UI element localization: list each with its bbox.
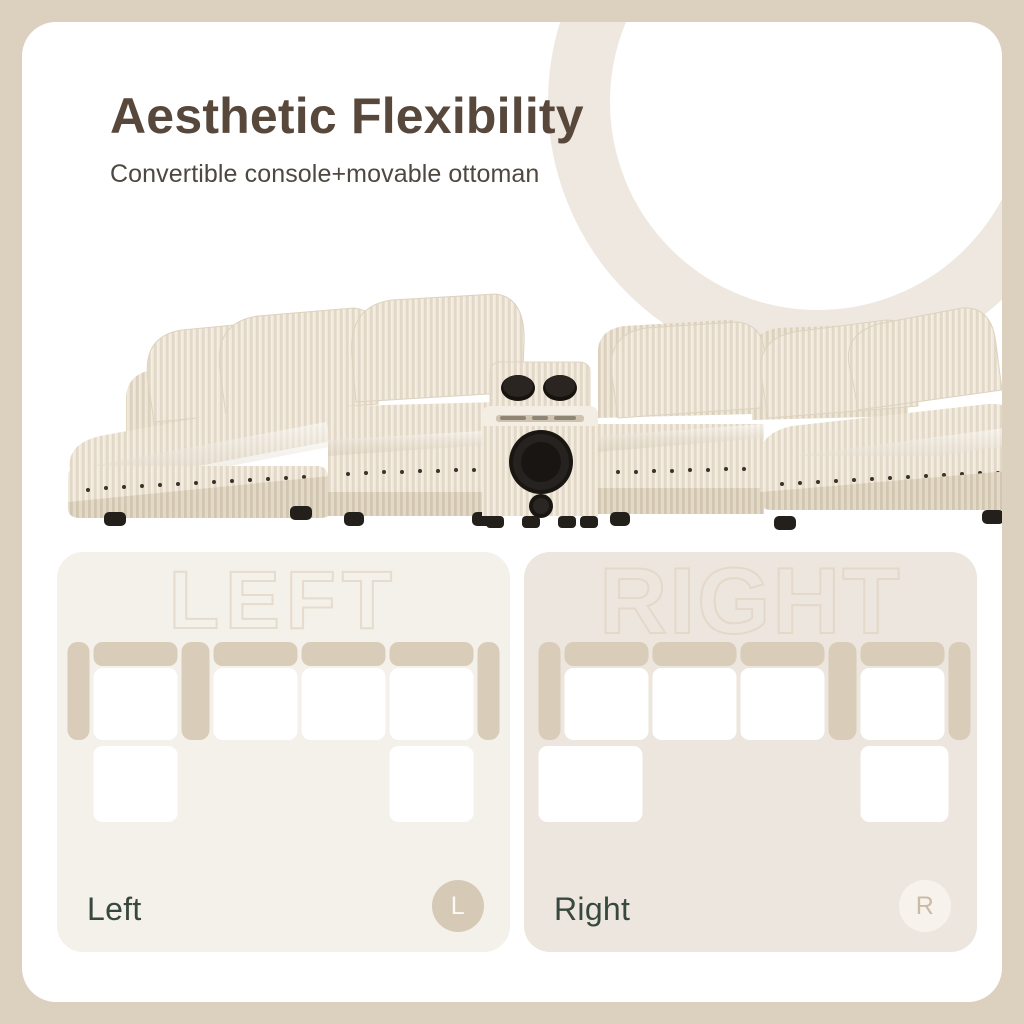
seat-module — [861, 668, 945, 740]
arm-far-left — [68, 642, 90, 740]
seat-module — [302, 668, 386, 740]
arm-far-right — [949, 642, 971, 740]
content-card: Aesthetic Flexibility Convertible consol… — [22, 22, 1002, 1002]
backrest-3 — [741, 642, 825, 666]
backrest-3 — [302, 642, 386, 666]
ottoman-module — [94, 746, 178, 822]
backrest-2 — [214, 642, 298, 666]
ottoman-module — [539, 746, 643, 822]
variant-badge-left: L — [432, 880, 484, 932]
backrest-4 — [390, 642, 474, 666]
backrest-4 — [861, 642, 945, 666]
promo-page: Aesthetic Flexibility Convertible consol… — [0, 0, 1024, 1024]
header: Aesthetic Flexibility Convertible consol… — [110, 88, 870, 189]
layout-diagram-left — [57, 630, 510, 830]
page-subtitle: Convertible console+movable ottoman — [110, 160, 870, 189]
backrest-2 — [653, 642, 737, 666]
page-title: Aesthetic Flexibility — [110, 88, 870, 146]
seat-module — [741, 668, 825, 740]
arm-mid — [182, 642, 210, 740]
arm-far-right — [478, 642, 500, 740]
sofa-console — [482, 362, 598, 528]
sofa-left-seats — [328, 402, 500, 526]
seat-module — [214, 668, 298, 740]
layout-diagram-right — [524, 630, 977, 830]
variant-label-right: Right — [554, 891, 630, 928]
seat-module — [94, 668, 178, 740]
backrest-1 — [94, 642, 178, 666]
ottoman-module — [390, 746, 474, 822]
variant-label-left: Left — [87, 891, 142, 928]
sofa-illustration — [52, 284, 1002, 546]
ottoman-module — [861, 746, 949, 822]
arm-mid — [829, 642, 857, 740]
seat-module — [565, 668, 649, 740]
variant-card-left[interactable]: LEFT — [57, 552, 510, 952]
backrest-1 — [565, 642, 649, 666]
variant-cards: LEFT — [57, 552, 977, 952]
variant-badge-right: R — [899, 880, 951, 932]
variant-card-right[interactable]: RIGHT — [524, 552, 977, 952]
seat-module — [653, 668, 737, 740]
arm-far-left — [539, 642, 561, 740]
sofa-right-chaise — [760, 404, 1002, 530]
seat-module — [390, 668, 474, 740]
